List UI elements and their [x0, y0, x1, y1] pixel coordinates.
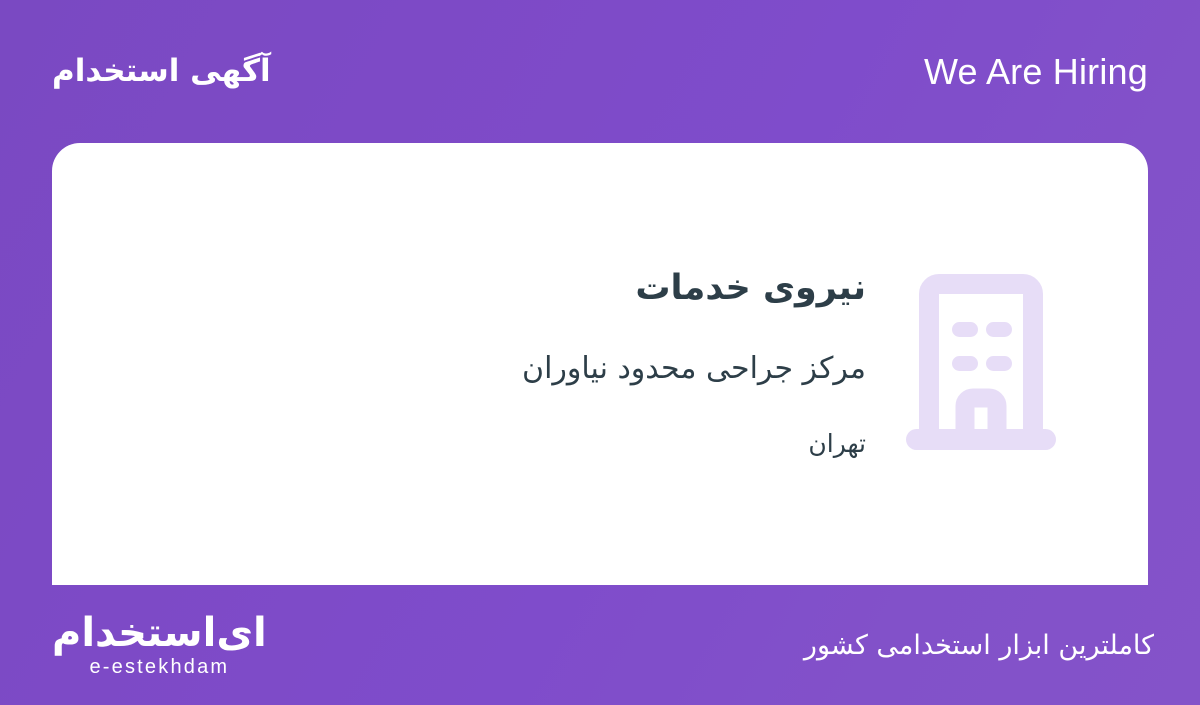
poster-footer: کاملترین ابزار استخدامی کشور ای‌استخدام …	[0, 585, 1200, 705]
job-ad-heading-fa: آگهی استخدام	[52, 56, 271, 87]
job-ad-poster: We Are Hiring آگهی استخدام نیروی خدمات م…	[0, 0, 1200, 705]
footer-tagline: کاملترین ابزار استخدامی کشور	[804, 632, 1154, 659]
brand-name-en: e-estekhdam	[89, 657, 229, 677]
job-details: نیروی خدمات مرکز جراحی محدود نیاوران تهر…	[92, 267, 866, 460]
e-estekhdam-logo: ای‌استخدام e-estekhdam	[52, 613, 267, 677]
job-card: نیروی خدمات مرکز جراحی محدود نیاوران تهر…	[52, 143, 1148, 585]
poster-header: We Are Hiring آگهی استخدام	[0, 0, 1200, 143]
job-title: نیروی خدمات	[112, 267, 866, 311]
company-name: مرکز جراحی محدود نیاوران	[112, 349, 866, 388]
we-are-hiring-text: We Are Hiring	[924, 54, 1148, 90]
building-icon	[896, 274, 1066, 454]
company-logo-placeholder	[866, 274, 1096, 454]
brand-name-fa: ای‌استخدام	[52, 613, 267, 653]
job-location: تهران	[112, 428, 866, 461]
